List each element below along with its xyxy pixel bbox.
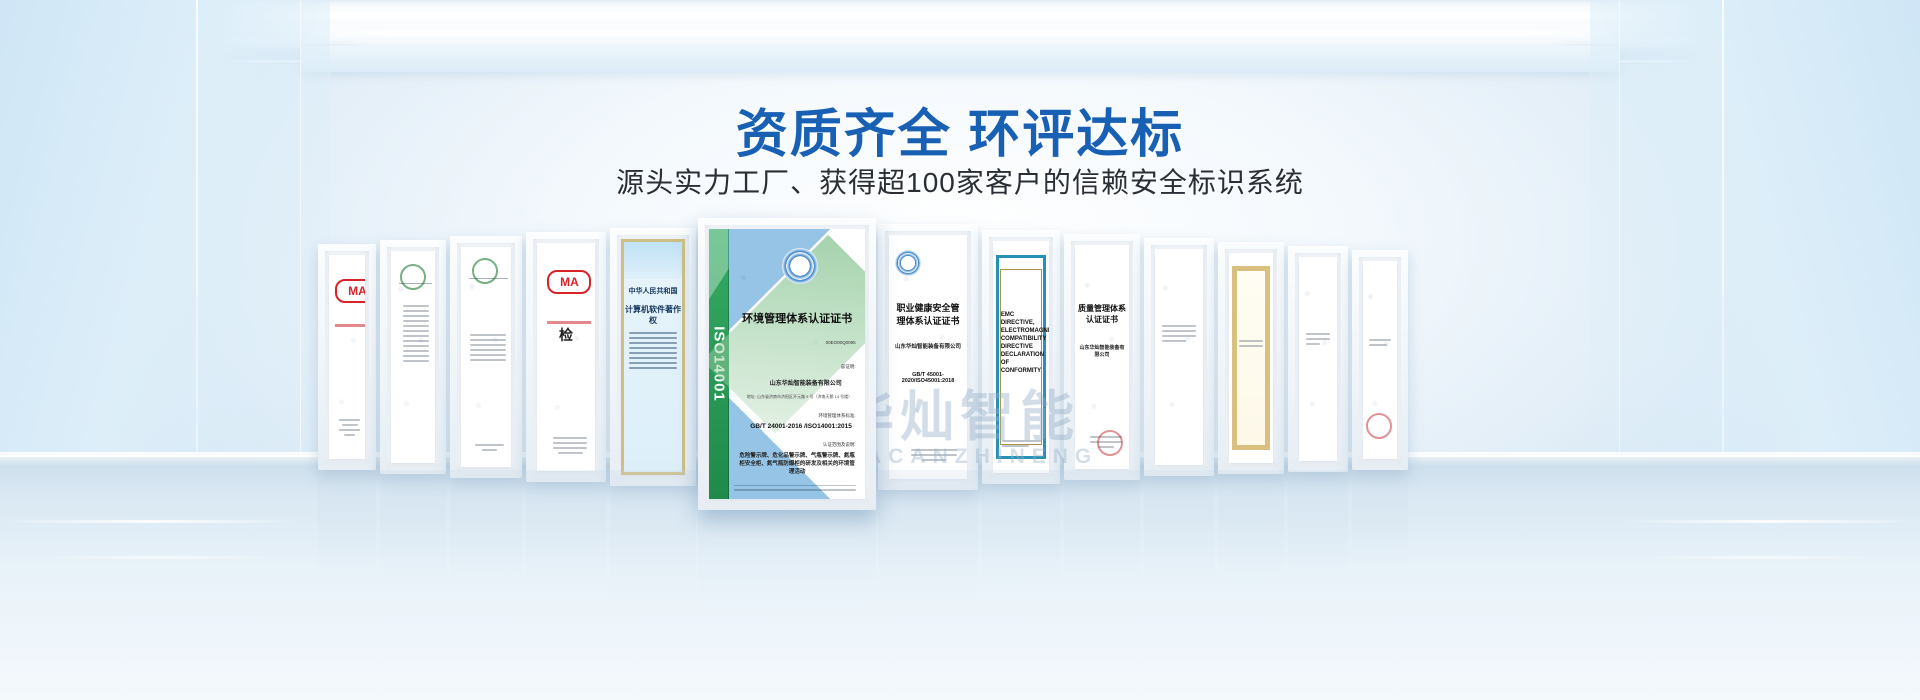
page-subtitle: 源头实力工厂、获得超100家客户的信赖安全标识系统 <box>0 161 1920 201</box>
ce-declaration-text: EMC DIRECTIVE, ELECTROMAGNETIC COMPATIBI… <box>1001 311 1045 376</box>
featured-standard: GB/T 24001-2016 /ISO14001:2015 <box>746 423 855 430</box>
featured-scope: 危险警示牌、危化品警示牌、气瓶警示牌、氮瓶柜安全柜、氮气瓶防爆柜的研发及相关的环… <box>737 453 857 477</box>
gallery-soffit <box>300 46 1620 72</box>
red-seal-10 <box>1097 430 1123 456</box>
certificate-frame-5[interactable]: 中华人民共和国 计算机软件著作权 <box>610 228 696 486</box>
cert-watermark-11 <box>1155 249 1203 465</box>
cert-8-company: 山东华灿智能装备有限公司 <box>892 342 964 350</box>
certification-body-logo-8 <box>895 250 921 276</box>
lab-logo-3 <box>472 258 498 284</box>
certificate-frame-7-featured[interactable]: ISO14001 环境管理体系认证证书 00EO00Q0095 兹证明: 山东华… <box>698 218 876 510</box>
featured-standard-label: 环境管理体系标准: <box>771 413 855 419</box>
cert-watermark-13 <box>1299 257 1337 461</box>
banner-stage: 资质齐全 环评达标 源头实力工厂、获得超100家客户的信赖安全标识系统 MA <box>0 0 1920 700</box>
certificate-frame-12[interactable] <box>1218 242 1284 474</box>
cert-10-company: 山东华灿智能装备有限公司 <box>1077 344 1127 358</box>
certificate-frame-11[interactable] <box>1144 238 1214 476</box>
page-title: 资质齐全 环评达标 <box>0 92 1920 167</box>
certificate-frame-13[interactable] <box>1288 246 1348 472</box>
cma-badge-4: MA <box>547 270 591 294</box>
ceiling-light-strip-2 <box>210 30 1710 36</box>
honor-gold-frame <box>1232 266 1271 451</box>
cma-underline-1 <box>335 324 365 327</box>
cma-underline-4 <box>547 321 591 324</box>
certificate-frame-10[interactable]: 质量管理体系认证证书 山东华灿智能装备有限公司 <box>1064 234 1140 480</box>
certificate-frame-8[interactable]: 职业健康安全管理体系认证证书 山东华灿智能装备有限公司 GB/T 45001-2… <box>878 224 978 490</box>
featured-cert-no: 00EO00Q0095 <box>771 340 855 345</box>
certificate-frame-9[interactable]: EMC DIRECTIVE, ELECTROMAGNETIC COMPATIBI… <box>982 230 1060 484</box>
cert-8-title: 职业健康安全管理体系认证证书 <box>892 301 964 327</box>
certificate-frame-14[interactable] <box>1352 250 1408 470</box>
lab-logo-2 <box>400 264 426 290</box>
featured-cert-title: 环境管理体系认证证书 <box>737 310 857 326</box>
certificate-frame-3[interactable] <box>450 236 522 478</box>
certification-body-logo <box>782 248 818 284</box>
certificate-frame-1[interactable]: MA <box>318 244 376 470</box>
certificate-frame-4[interactable]: MA 检 <box>526 232 606 482</box>
featured-company: 山东华灿智能装备有限公司 <box>756 378 856 387</box>
featured-scope-label: 认证范围及说明: <box>771 442 855 448</box>
cma-badge-1: MA <box>335 279 365 303</box>
featured-address: 地址: 山东省济南市济阳区开元路 9 号（济南天鹅 14 号楼） <box>743 394 855 400</box>
certificate-frame-2[interactable] <box>380 240 446 474</box>
floor-reflections <box>0 470 1920 620</box>
ceiling-inner-panel <box>120 0 1800 48</box>
certificate-gallery: MA <box>0 232 1920 472</box>
featured-company-label: 兹证明: <box>771 364 855 370</box>
cert-10-title: 质量管理体系认证证书 <box>1077 303 1127 325</box>
